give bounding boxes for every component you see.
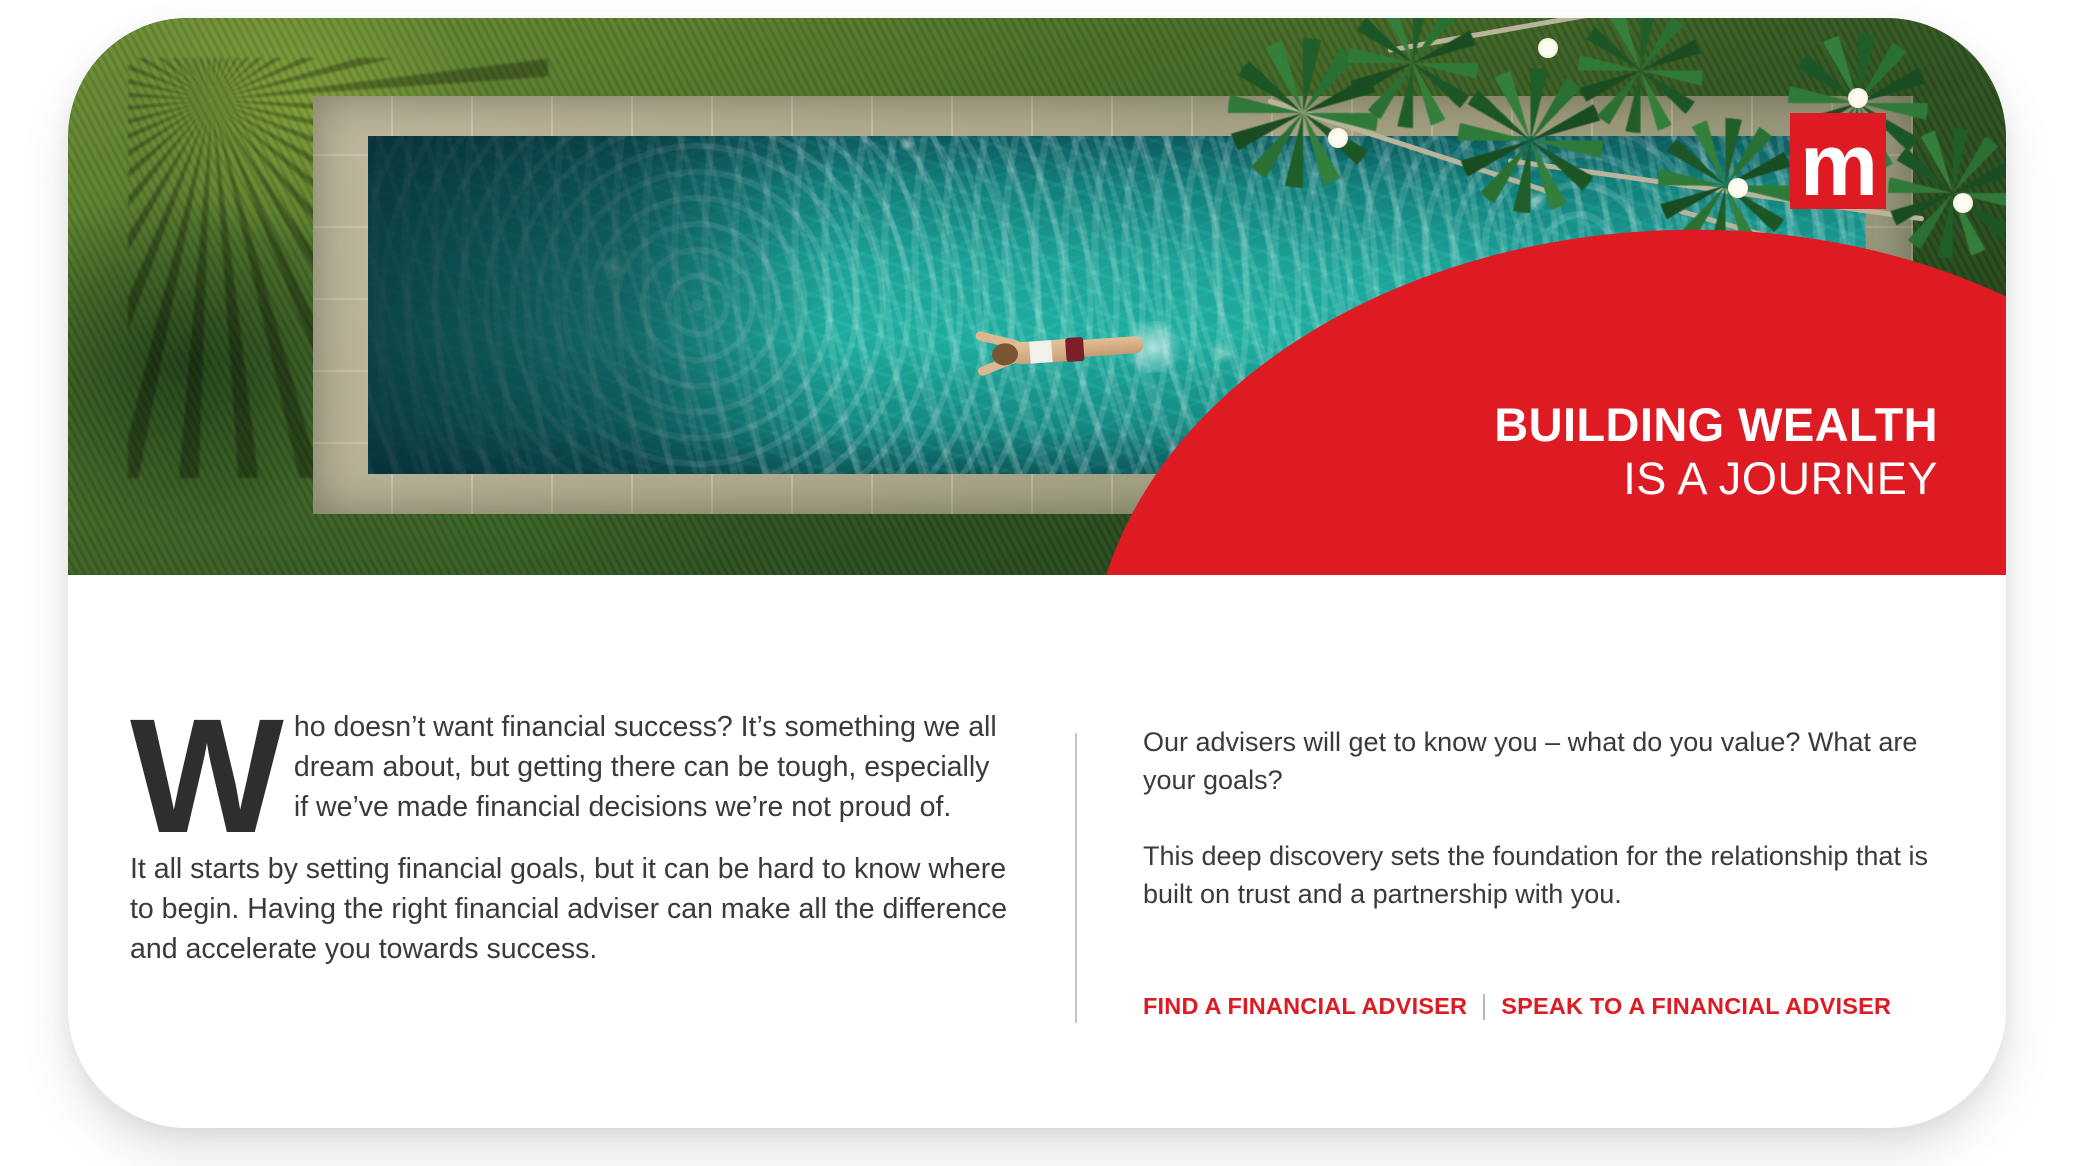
intro-paragraph-text: ho doesn’t want financial success? It’s … <box>294 711 997 823</box>
hero-banner: BUILDING WEALTH IS A JOURNEY m <box>68 18 2006 575</box>
intro-paragraph: Who doesn’t want financial success? It’s… <box>130 707 1010 827</box>
cta-separator <box>1483 994 1485 1020</box>
drop-cap: W <box>130 711 280 841</box>
hero-title-main: BUILDING WEALTH <box>1494 400 1938 451</box>
swimsuit-top <box>1029 340 1052 363</box>
left-column: Who doesn’t want financial success? It’s… <box>130 707 1010 969</box>
swimmer-figure <box>956 311 1150 394</box>
speak-adviser-link[interactable]: SPEAK TO A FINANCIAL ADVISER <box>1501 993 1891 1020</box>
sidebar-paragraph-1: Our advisers will get to know you – what… <box>1143 723 1963 799</box>
hero-title-sub: IS A JOURNEY <box>1494 455 1938 504</box>
cta-row: FIND A FINANCIAL ADVISER SPEAK TO A FINA… <box>1143 993 1963 1020</box>
sidebar-paragraph-2: This deep discovery sets the foundation … <box>1143 837 1963 913</box>
swimsuit-bottom <box>1065 337 1085 362</box>
right-column: Our advisers will get to know you – what… <box>1143 723 1963 1020</box>
page-root: BUILDING WEALTH IS A JOURNEY m Who doesn… <box>0 0 2073 1166</box>
logo-letter-m: m <box>1800 136 1876 194</box>
content-area: Who doesn’t want financial success? It’s… <box>68 575 2006 1128</box>
body-paragraph: It all starts by setting financial goals… <box>130 849 1010 969</box>
hero-headline: BUILDING WEALTH IS A JOURNEY <box>1494 400 1938 503</box>
column-divider <box>1075 733 1077 1023</box>
promo-card: BUILDING WEALTH IS A JOURNEY m Who doesn… <box>68 18 2006 1128</box>
brand-logo[interactable]: m <box>1790 113 1886 209</box>
pool-deep-end <box>368 136 838 474</box>
find-adviser-link[interactable]: FIND A FINANCIAL ADVISER <box>1143 993 1467 1020</box>
